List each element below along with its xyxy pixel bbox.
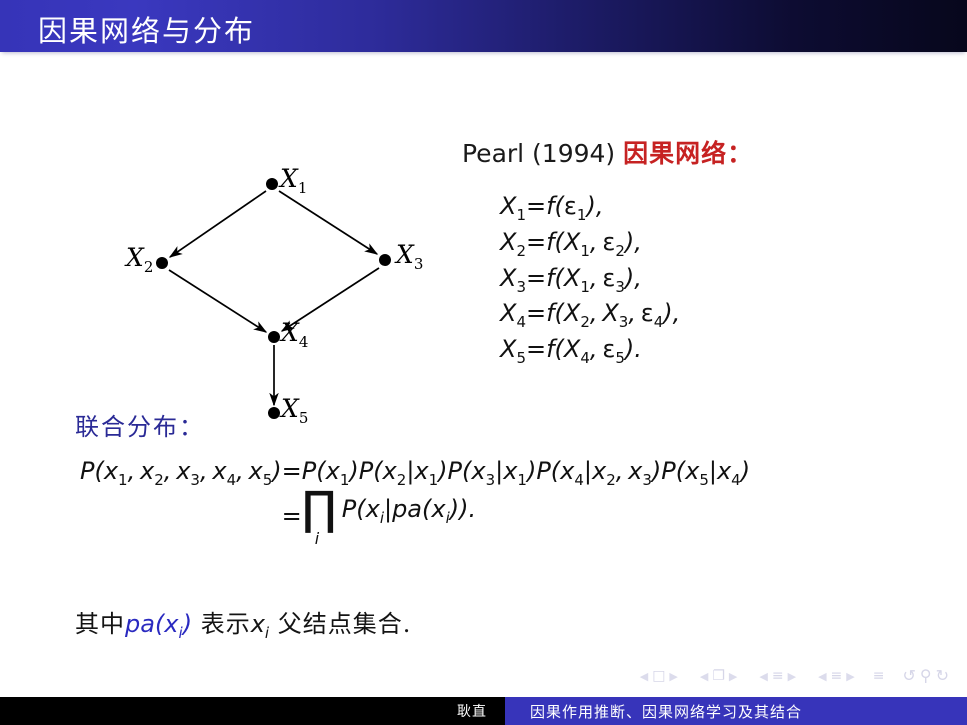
footer-title-section: 因果作用推断、因果网络学习及其结合	[505, 697, 967, 725]
pearl-heading: Pearl (1994) 因果网络：	[462, 134, 753, 170]
dag-node-x3[interactable]	[379, 254, 391, 266]
dag-node-x2[interactable]	[156, 257, 168, 269]
joint-lhs-blank	[80, 489, 282, 545]
prev-section-icon[interactable]: ◀	[818, 671, 826, 682]
sem-lhs-1: X1	[500, 190, 526, 226]
dag-edge-x1-x2	[170, 191, 266, 257]
note-prefix: 其中	[75, 610, 125, 638]
prev-frame-icon[interactable]: ◀	[700, 671, 708, 682]
joint-row-1: P(x1, x2, x3, x4, x5) = P(x1)P(x2|x1)P(x…	[80, 457, 750, 489]
footer-title: 因果作用推断、因果网络学习及其结合	[530, 701, 802, 722]
prev-subsection-icon[interactable]: ◀	[759, 671, 767, 682]
frames-icon[interactable]: ❐	[712, 669, 725, 683]
joint-rhs-factorized: P(x1)P(x2|x1)P(x3|x1)P(x4|x2, x3)P(x5|x4…	[302, 457, 750, 489]
search-icon[interactable]: ⚲	[920, 668, 932, 684]
sem-rhs-5: f(X4, ε5).	[546, 333, 680, 369]
dag-label-x3: X3	[396, 240, 423, 273]
sem-rhs-4: f(X2, X3, ε4),	[546, 297, 680, 333]
pearl-colon: ：	[727, 139, 753, 168]
nav-group-subsection[interactable]: ◀ ≡ ▶	[755, 669, 800, 683]
sem-rel-4: =	[526, 297, 546, 333]
sem-rhs-2: f(X1, ε2),	[546, 226, 680, 262]
dag-node-x5[interactable]	[268, 407, 280, 419]
dag-edge-x1-x3	[279, 191, 377, 254]
sem-row-2: X2 = f(X1, ε2),	[500, 226, 680, 262]
sem-lhs-4: X4	[500, 297, 526, 333]
slide-content: X1 X2 X3 X4 X5 Pearl (1994) 因果网络： X1 = f…	[0, 52, 967, 672]
causal-dag-figure: X1 X2 X3 X4 X5	[90, 102, 460, 422]
product-operator: ∏ i	[302, 489, 342, 545]
joint-rel-2: =	[282, 489, 302, 545]
section-icon[interactable]: ≡	[831, 669, 843, 683]
nav-group-frames[interactable]: ◀ ❐ ▶	[696, 669, 742, 683]
next-section-icon[interactable]: ▶	[846, 671, 854, 682]
slide-footer: 耿直 因果作用推断、因果网络学习及其结合	[0, 697, 967, 725]
sem-row-3: X3 = f(X1, ε3),	[500, 262, 680, 298]
sem-rel-5: =	[526, 333, 546, 369]
prev-slide-icon[interactable]: ◀	[640, 671, 648, 682]
dag-label-x5: X5	[281, 394, 308, 427]
sem-rel-3: =	[526, 262, 546, 298]
slide-title-bar: 因果网络与分布	[0, 0, 967, 52]
joint-row-2: = ∏ i P(xi|pa(xi)).	[80, 489, 750, 545]
note-middle: 表示	[201, 610, 251, 638]
nav-group-history[interactable]: ↺ ⚲ ↻	[898, 668, 949, 684]
dag-edges	[169, 191, 379, 405]
structural-equations: X1 = f(ε1), X2 = f(X1, ε2), X3 = f(X1, ε…	[500, 190, 680, 369]
nav-group-section[interactable]: ◀ ≡ ▶	[814, 669, 859, 683]
note-line: 其中pa(xi) 表示xi 父结点集合.	[75, 604, 411, 642]
nav-group-slide[interactable]: ◀ □ ▶	[636, 669, 682, 683]
sem-table: X1 = f(ε1), X2 = f(X1, ε2), X3 = f(X1, ε…	[500, 190, 680, 369]
sem-lhs-5: X5	[500, 333, 526, 369]
next-subsection-icon[interactable]: ▶	[788, 671, 796, 682]
forward-icon[interactable]: ↻	[936, 668, 949, 684]
sem-row-4: X4 = f(X2, X3, ε4),	[500, 297, 680, 333]
note-suffix: 父结点集合.	[278, 610, 412, 638]
sem-row-1: X1 = f(ε1),	[500, 190, 680, 226]
page-title: 因果网络与分布	[38, 8, 255, 50]
joint-rhs-product: ∏ i P(xi|pa(xi)).	[302, 489, 750, 545]
sem-lhs-2: X2	[500, 226, 526, 262]
sem-rhs-1: f(ε1),	[546, 190, 680, 226]
sem-rel-2: =	[526, 226, 546, 262]
beamer-navigation-bar: ◀ □ ▶ ◀ ❐ ▶ ◀ ≡ ▶ ◀ ≡ ▶ ≡ ↺ ⚲ ↻	[0, 668, 967, 696]
product-body: P(xi|pa(xi)).	[342, 495, 476, 527]
sem-lhs-3: X3	[500, 262, 526, 298]
joint-rel-1: =	[282, 457, 302, 489]
sem-rel-1: =	[526, 190, 546, 226]
document-icon[interactable]: ≡	[873, 669, 885, 683]
dag-edge-x2-x4	[169, 270, 266, 332]
note-math-xi: xi	[251, 610, 269, 638]
joint-table: P(x1, x2, x3, x4, x5) = P(x1)P(x2|x1)P(x…	[80, 457, 750, 545]
subsection-icon[interactable]: ≡	[772, 669, 784, 683]
footer-author: 耿直	[457, 701, 487, 721]
back-icon[interactable]: ↺	[902, 668, 915, 684]
next-frame-icon[interactable]: ▶	[729, 671, 737, 682]
note-math-pa: pa(xi)	[125, 610, 192, 638]
dag-label-x2: X2	[126, 243, 153, 276]
dag-label-x4: X4	[281, 318, 308, 351]
sem-row-5: X5 = f(X4, ε5).	[500, 333, 680, 369]
dag-label-x1: X1	[280, 164, 307, 197]
joint-distribution-equations: P(x1, x2, x3, x4, x5) = P(x1)P(x2|x1)P(x…	[80, 457, 750, 545]
slide-icon[interactable]: □	[652, 669, 665, 683]
dag-node-x4[interactable]	[268, 331, 280, 343]
product-index: i	[315, 529, 319, 548]
pearl-cn-label: 因果网络	[623, 139, 727, 168]
pearl-citation: Pearl (1994)	[462, 139, 615, 168]
nav-group-document[interactable]: ≡	[873, 669, 885, 683]
next-slide-icon[interactable]: ▶	[669, 671, 677, 682]
product-symbol: ∏	[302, 485, 337, 531]
footer-author-section: 耿直	[0, 697, 505, 725]
joint-distribution-label: 联合分布：	[75, 407, 205, 442]
joint-lhs: P(x1, x2, x3, x4, x5)	[80, 457, 282, 489]
dag-node-x1[interactable]	[266, 178, 278, 190]
sem-rhs-3: f(X1, ε3),	[546, 262, 680, 298]
